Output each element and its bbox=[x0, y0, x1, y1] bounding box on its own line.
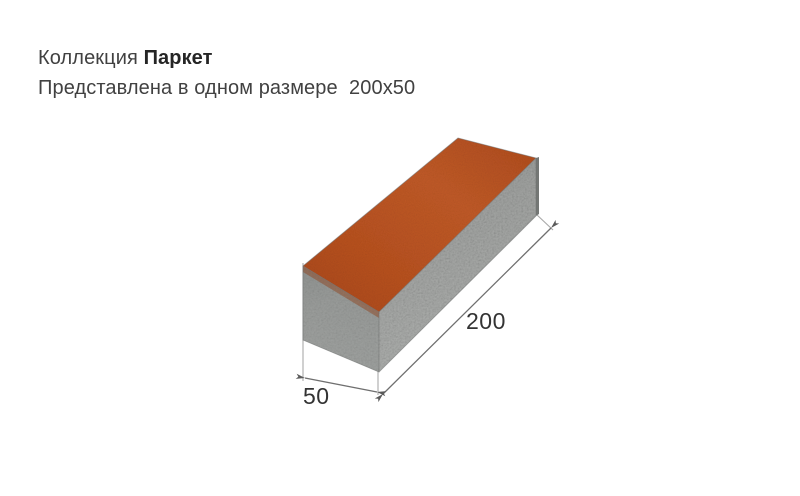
dimension-label-200: 200 bbox=[466, 308, 506, 335]
extension-line-right bbox=[536, 214, 553, 230]
stone-body bbox=[303, 138, 539, 372]
dimension-label-50: 50 bbox=[303, 383, 330, 410]
paving-stone-illustration bbox=[0, 0, 800, 496]
